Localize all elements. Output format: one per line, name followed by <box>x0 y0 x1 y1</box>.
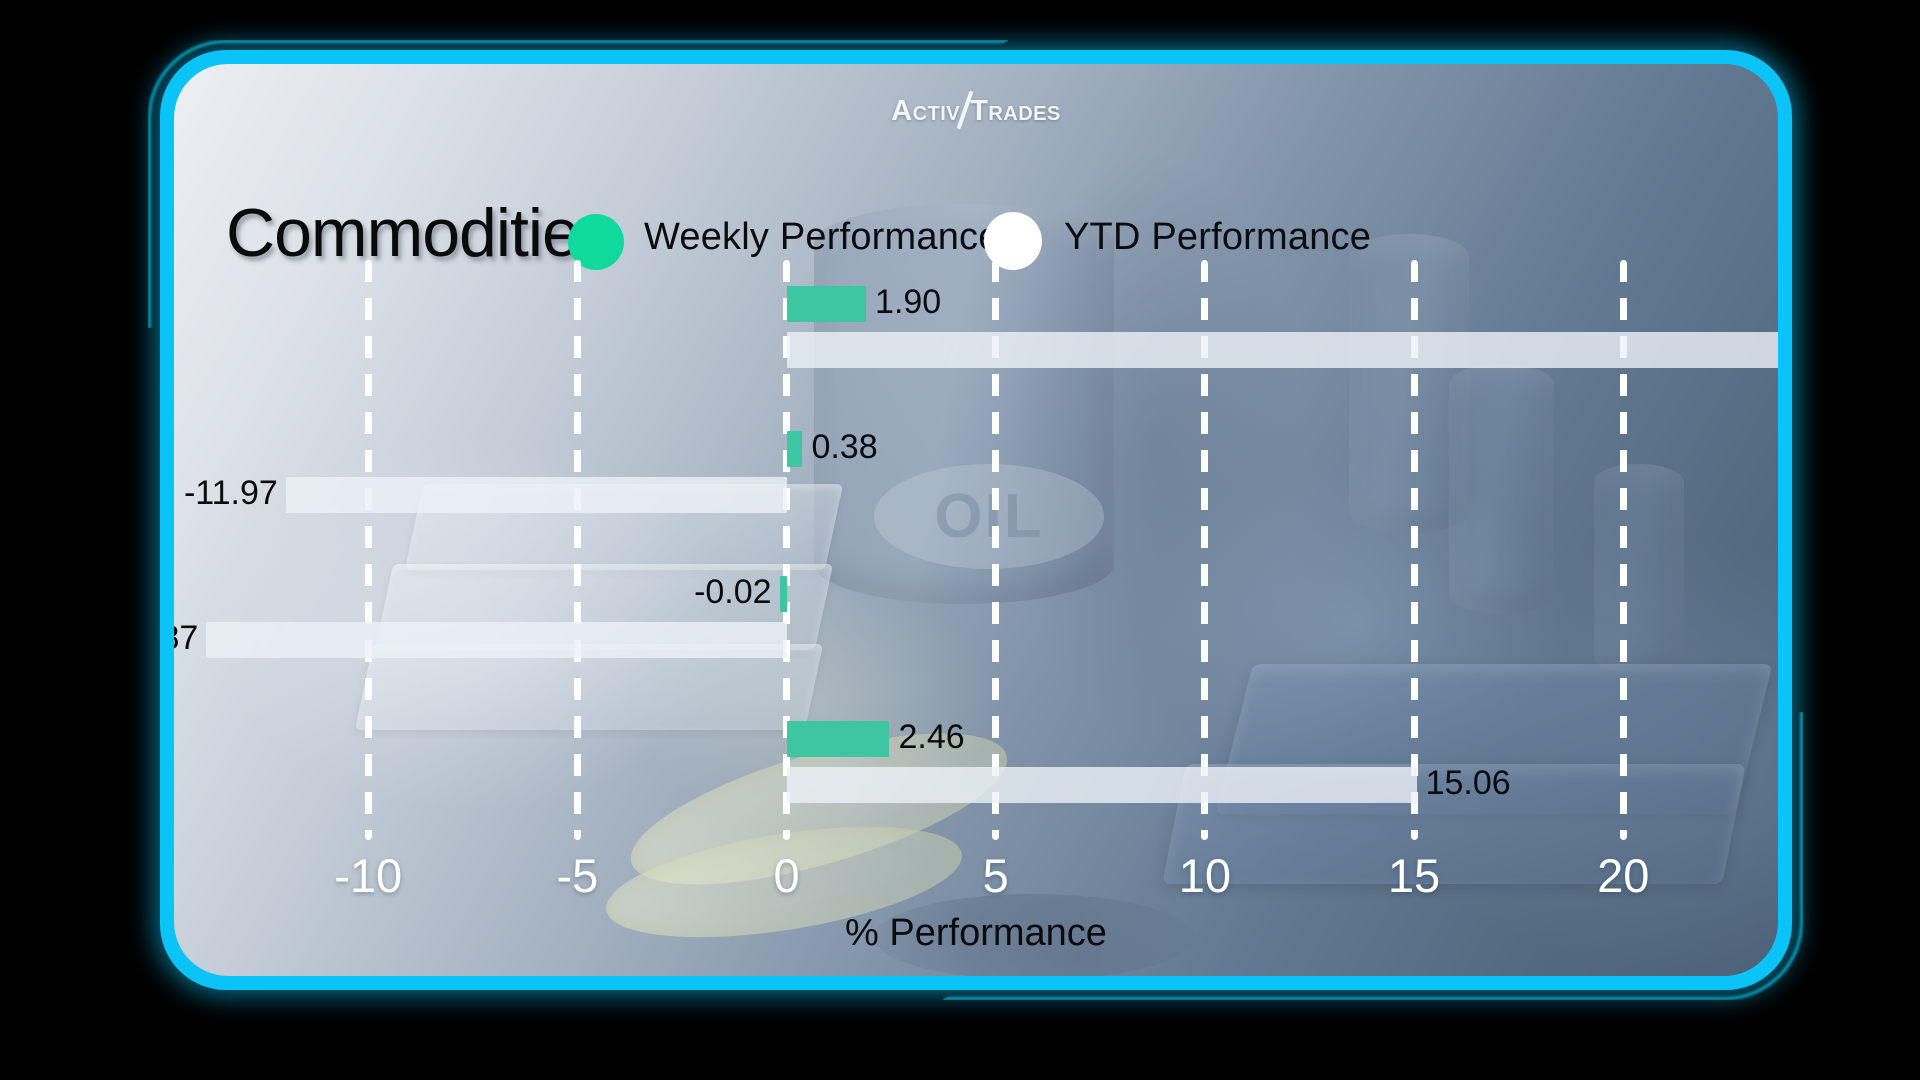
chart-row-copper: 29CuCopperCOPPER2.4615.06 <box>226 695 1732 840</box>
bar-wti-ytd <box>206 622 786 658</box>
bar-value-brent-weekly: 0.38 <box>811 429 877 465</box>
bar-copper-weekly <box>787 721 890 757</box>
x-tick-label: 15 <box>1388 848 1440 904</box>
bar-wti-weekly <box>780 576 787 612</box>
chart-row-gold: GOLD1.9039.29 <box>226 260 1732 405</box>
bar-value-wti-weekly: -0.02 <box>694 574 772 610</box>
category-label-copper: 29CuCopperCOPPER <box>174 709 226 809</box>
chart-row-brent: BRENT0.38-11.97 <box>226 405 1732 550</box>
x-axis-ticks: -10-505101520 <box>226 848 1732 908</box>
x-tick-label: -5 <box>556 848 598 904</box>
legend-label-ytd: YTD Performance <box>1064 216 1371 259</box>
x-axis-title: % Performance <box>174 912 1778 955</box>
logo-text-activ: Activ <box>891 95 960 128</box>
bar-value-copper-weekly: 2.46 <box>898 719 964 755</box>
x-tick-label: 20 <box>1597 848 1649 904</box>
activtrades-logo: Activ Trades <box>174 94 1778 128</box>
bar-value-brent-ytd: -11.97 <box>184 475 278 511</box>
category-name: GOLD <box>174 336 226 372</box>
legend-label-weekly: Weekly Performance <box>644 216 1000 259</box>
logo-text-trades: Trades <box>970 95 1061 128</box>
logo-slash-icon <box>957 94 973 128</box>
x-tick-label: 10 <box>1179 848 1231 904</box>
bar-value-gold-weekly: 1.90 <box>875 284 941 320</box>
x-tick-label: 5 <box>983 848 1009 904</box>
category-name: COPPER <box>174 773 226 809</box>
chart-card: OIL Activ Trades Commodities Weekl <box>174 64 1778 976</box>
bar-gold-ytd <box>787 332 1778 368</box>
chart-row-wti: WTI-0.02-13.87 <box>226 550 1732 695</box>
bar-value-copper-ytd: 15.06 <box>1426 765 1511 801</box>
bar-copper-ytd <box>787 767 1417 803</box>
plot-area: GOLD1.9039.29BRENT0.38-11.97WTI-0.02-13.… <box>226 260 1732 840</box>
bar-brent-ytd <box>286 477 787 513</box>
chart-stage: OIL Activ Trades Commodities Weekl <box>0 0 1920 1080</box>
bar-value-wti-ytd: -13.87 <box>174 620 198 656</box>
category-label-gold: GOLD <box>174 274 226 372</box>
card-cyan-frame: OIL Activ Trades Commodities Weekl <box>160 50 1792 990</box>
bar-brent-weekly <box>787 431 803 467</box>
x-tick-label: 0 <box>773 848 799 904</box>
bar-gold-weekly <box>787 286 866 322</box>
x-tick-label: -10 <box>334 848 402 904</box>
